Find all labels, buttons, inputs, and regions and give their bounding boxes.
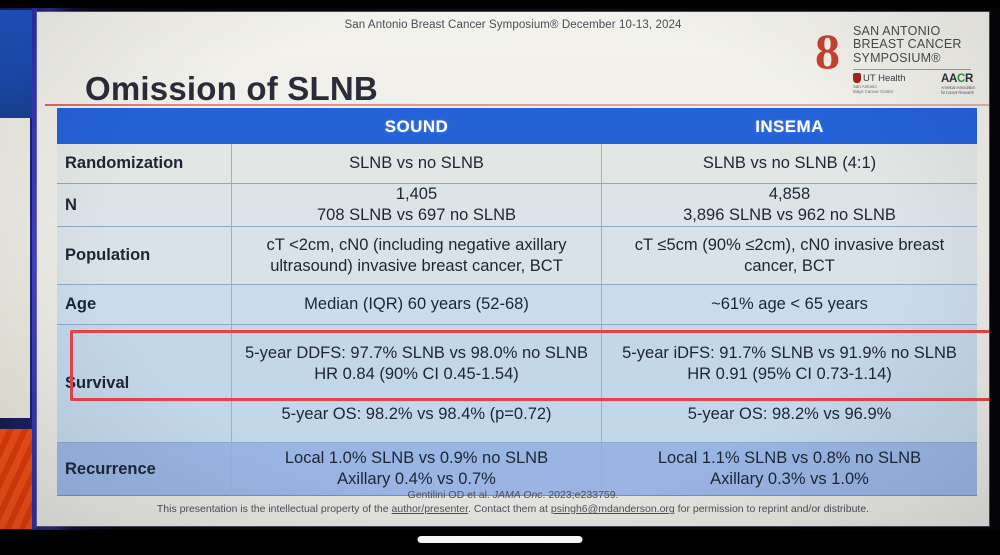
ut-health-label: UT Health (863, 73, 906, 84)
citation-rest: . 2023;e233759. (543, 489, 619, 501)
table-row-population: Population cT <2cm, cN0 (including negat… (57, 227, 977, 285)
device-screen: San Antonio Breast Cancer Symposium® Dec… (0, 0, 1000, 555)
cell-age-insema: ~61% age < 65 years (602, 285, 977, 325)
cell-population-insema: cT ≤5cm (90% ≤2cm), cN0 invasive breast … (602, 227, 977, 285)
sabcs-logo-line3: SYMPOSIUM® (853, 52, 962, 65)
sabcs-logo-wordmark: SAN ANTONIO BREAST CANCER SYMPOSIUM® (853, 25, 962, 65)
table-header-row: SOUND INSEMA (57, 108, 977, 144)
cell-randomization-insema: SLNB vs no SLNB (4:1) (602, 144, 977, 184)
decoration-blue-shape (0, 10, 34, 118)
aacr-a: AA (941, 73, 957, 85)
logo-divider (853, 69, 971, 70)
cell-randomization-sound: SLNB vs no SLNB (232, 144, 602, 184)
slide-canvas: San Antonio Breast Cancer Symposium® Dec… (37, 12, 989, 526)
sabcs-logo-line2: BREAST CANCER (853, 38, 962, 51)
table-row-age: Age Median (IQR) 60 years (52-68) ~61% a… (57, 285, 977, 325)
cell-survival-sound-block2: 5-year OS: 98.2% vs 98.4% (p=0.72) (281, 404, 551, 425)
table-row-n: N 1,405708 SLNB vs 697 no SLNB 4,8583,89… (57, 184, 977, 227)
disclaimer-post: for permission to reprint and/or distrib… (675, 503, 869, 515)
ut-sub2: Mays Cancer Center (853, 89, 906, 94)
ut-shield-icon (853, 73, 861, 83)
sabcs-logo-mark-icon: 8 (815, 26, 849, 78)
citation-author: Gentilini OD et al. (408, 489, 493, 501)
row-label-population: Population (57, 227, 232, 285)
header-cell-blank (57, 108, 232, 144)
cell-survival-insema: 5-year iDFS: 91.7% SLNB vs 91.9% no SLNB… (602, 325, 977, 443)
header-cell-sound: SOUND (232, 108, 602, 144)
aacr-c: C (957, 73, 965, 85)
home-indicator[interactable] (418, 536, 583, 543)
disclaimer-email-link[interactable]: psingh6@mdanderson.org (551, 503, 675, 515)
aacr-logo: AACR American Association for Cancer Res… (941, 73, 975, 95)
ut-health-logo: UT Health San Antonio Mays Cancer Center (853, 73, 906, 94)
disclaimer-pre: This presentation is the intellectual pr… (157, 503, 392, 515)
citation-journal: JAMA Onc (493, 489, 543, 501)
cell-survival-sound: 5-year DDFS: 97.7% SLNB vs 98.0% no SLNB… (232, 325, 602, 443)
disclaimer-author-link[interactable]: author/presenter (392, 503, 468, 515)
sabcs-logo: 8 SAN ANTONIO BREAST CANCER SYMPOSIUM® U… (815, 24, 975, 102)
page-title: Omission of SLNB (85, 70, 378, 108)
disclaimer-mid: . Contact them at (468, 503, 551, 515)
title-accent-rule (45, 104, 989, 106)
comparison-table: SOUND INSEMA Randomization SLNB vs no SL… (57, 108, 977, 496)
cell-n-sound: 1,405708 SLNB vs 697 no SLNB (232, 184, 602, 227)
row-label-survival: Survival (57, 325, 232, 443)
footer-disclaimer: This presentation is the intellectual pr… (37, 502, 989, 516)
header-cell-insema: INSEMA (602, 108, 977, 144)
decoration-orange-shape (0, 429, 32, 529)
decoration-light-panel (0, 118, 30, 418)
cell-n-insema: 4,8583,896 SLNB vs 962 no SLNB (602, 184, 977, 227)
cell-survival-sound-block1: 5-year DDFS: 97.7% SLNB vs 98.0% no SLNB… (245, 343, 588, 385)
row-label-n: N (57, 184, 232, 227)
cell-survival-insema-block1: 5-year iDFS: 91.7% SLNB vs 91.9% no SLNB… (622, 343, 957, 385)
slide-footer: Gentilini OD et al. JAMA Onc. 2023;e2337… (37, 488, 989, 516)
sabcs-logo-line1: SAN ANTONIO (853, 25, 962, 38)
row-label-age: Age (57, 285, 232, 325)
footer-citation: Gentilini OD et al. JAMA Onc. 2023;e2337… (37, 488, 989, 502)
table-row-survival: Survival 5-year DDFS: 97.7% SLNB vs 98.0… (57, 325, 977, 443)
cell-population-sound: cT <2cm, cN0 (including negative axillar… (232, 227, 602, 285)
cell-age-sound: Median (IQR) 60 years (52-68) (232, 285, 602, 325)
table-row-randomization: Randomization SLNB vs no SLNB SLNB vs no… (57, 144, 977, 184)
aacr-sub2: for Cancer Research (941, 90, 975, 95)
logo-partner-row: UT Health San Antonio Mays Cancer Center… (853, 73, 975, 95)
cell-survival-insema-block2: 5-year OS: 98.2% vs 96.9% (688, 404, 892, 425)
aacr-r: R (965, 73, 973, 85)
row-label-randomization: Randomization (57, 144, 232, 184)
